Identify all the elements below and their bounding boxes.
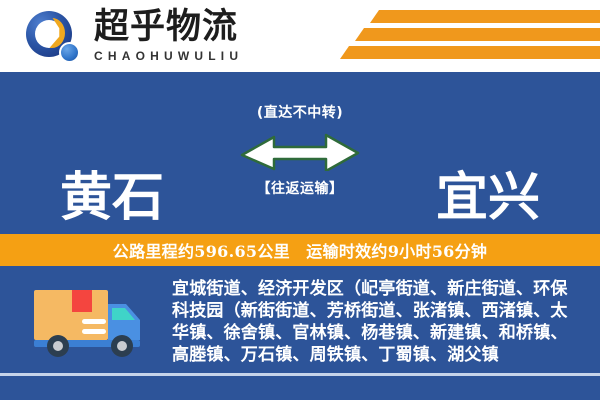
coverage-section: 宜城街道、经济开发区（屺亭街道、新庄街道、环保科技园（新街街道、芳桥街道、张渚镇… (0, 269, 600, 373)
brand-name-cn: 超乎物流 (94, 8, 243, 46)
header: 超乎物流 CHAOHUWULIU (0, 0, 600, 72)
brand-name-block: 超乎物流 CHAOHUWULIU (94, 8, 243, 63)
stripe-3 (340, 46, 600, 59)
delivery-truck-icon (32, 282, 162, 362)
coverage-areas-text: 宜城街道、经济开发区（屺亭街道、新庄街道、环保科技园（新街街道、芳桥街道、张渚镇… (172, 278, 584, 366)
speed-stripes-icon (340, 8, 600, 64)
origin-city: 黄石 (60, 172, 164, 224)
distance-duration-bar: 公路里程约596.65公里 运输时效约9小时56分钟 (0, 231, 600, 269)
double-headed-arrow-icon (240, 127, 360, 171)
stripe-1 (370, 10, 600, 23)
stripe-2 (355, 28, 600, 41)
logistics-route-poster: 超乎物流 CHAOHUWULIU 黄石 (直达不中转) 【往返运输】 宜兴 公路… (0, 0, 600, 400)
distance-duration-text: 公路里程约596.65公里 运输时效约9小时56分钟 (113, 238, 487, 262)
direct-note: (直达不中转) (240, 102, 360, 122)
destination-city: 宜兴 (436, 172, 540, 224)
route-middle: (直达不中转) 【往返运输】 (240, 102, 360, 198)
footer-strip (0, 376, 600, 400)
brand-name-en: CHAOHUWULIU (94, 49, 243, 63)
roundtrip-note: 【往返运输】 (240, 178, 360, 198)
route-banner: 黄石 (直达不中转) 【往返运输】 宜兴 (0, 72, 600, 231)
logo-dot (59, 42, 80, 63)
circle-moon-logo-icon (26, 11, 82, 63)
